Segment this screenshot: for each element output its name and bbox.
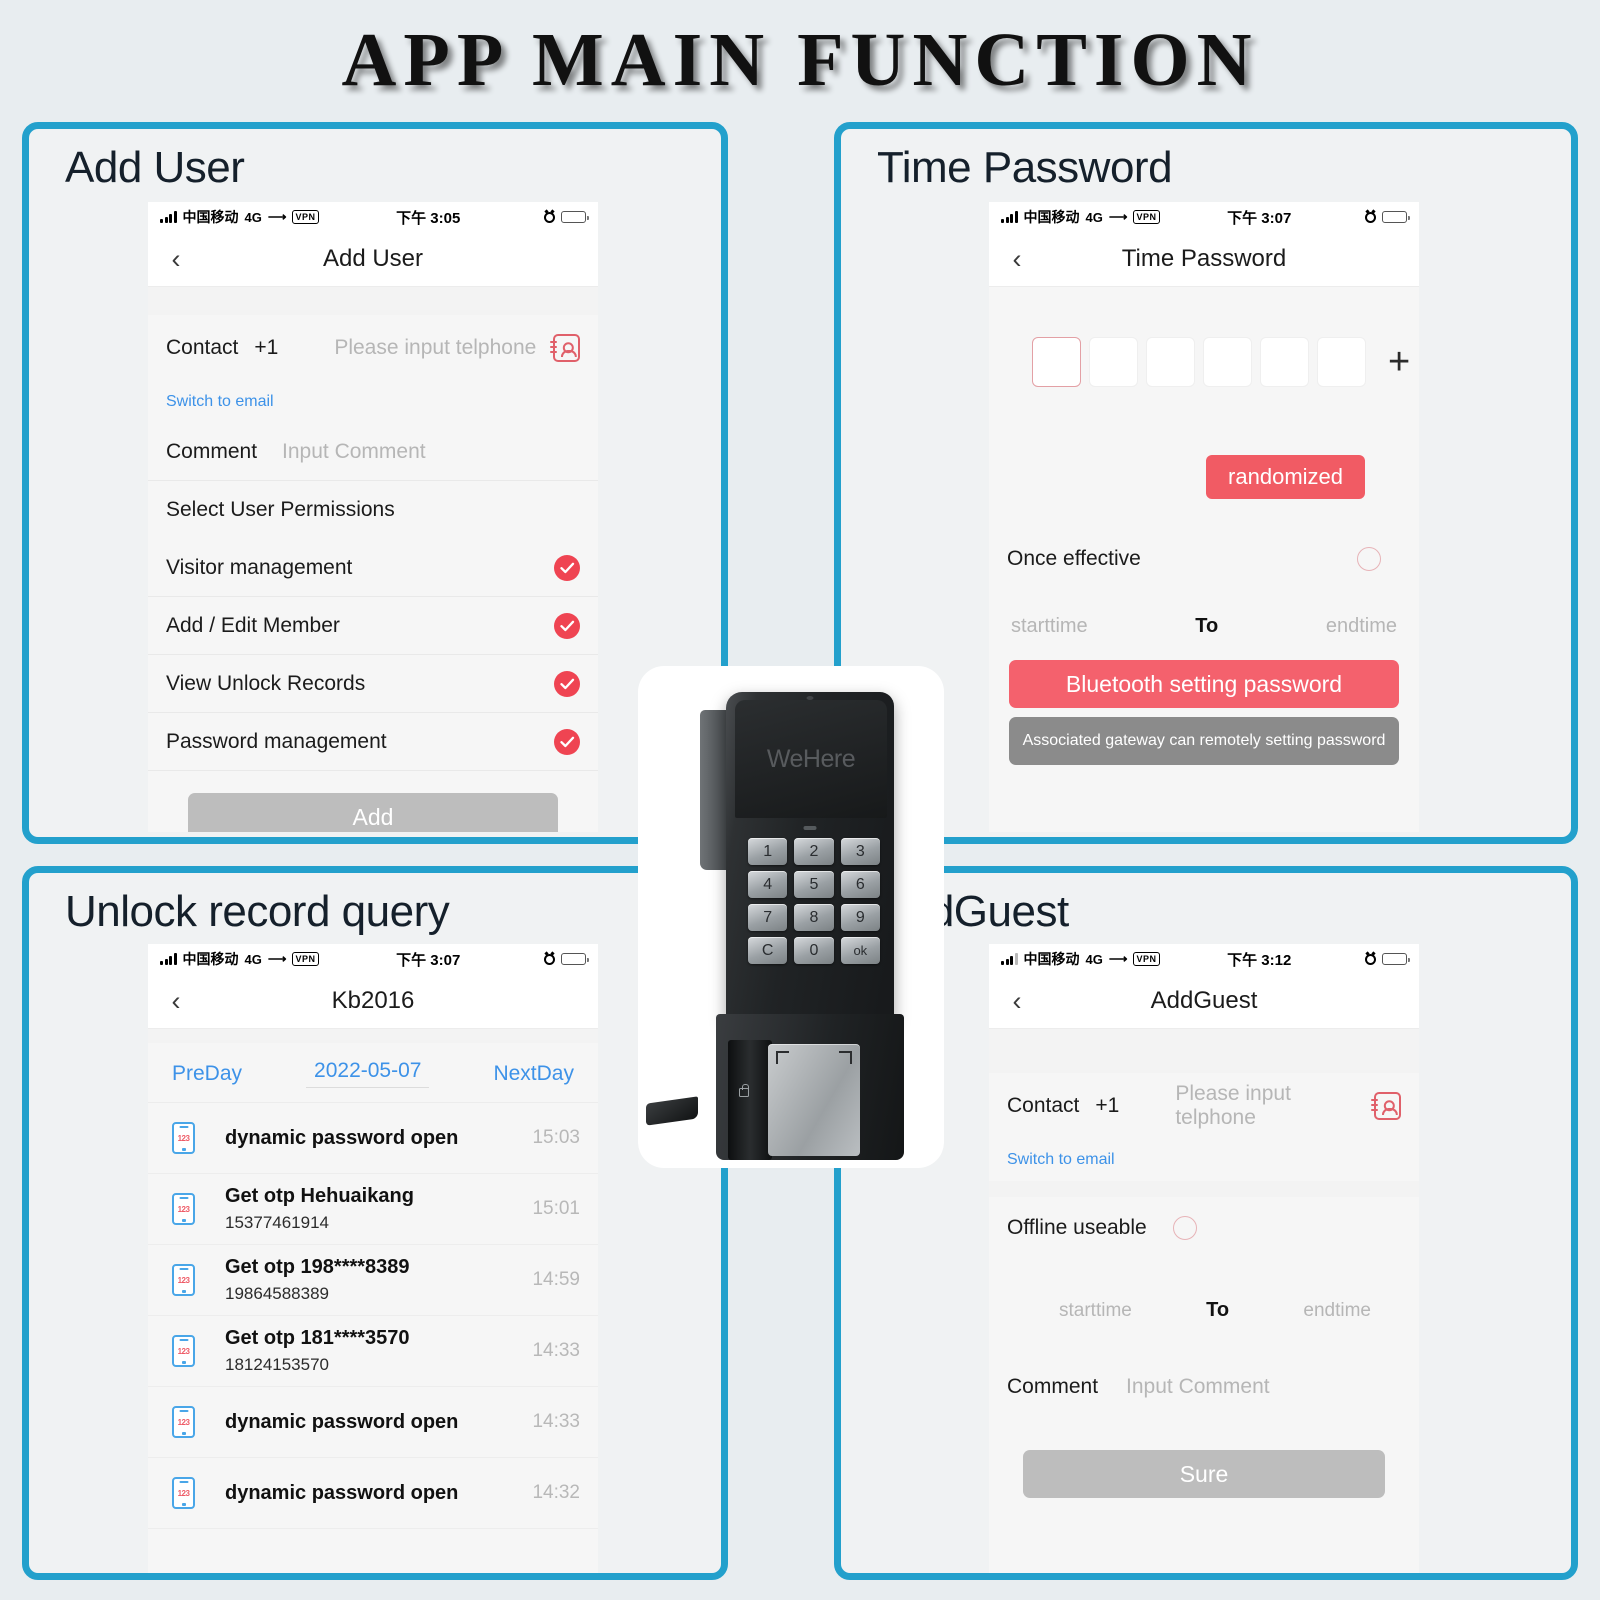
day-navigation: PreDay 2022-05-07 NextDay <box>148 1043 598 1103</box>
contact-row[interactable]: Contact +1 Please input telphone <box>989 1073 1419 1139</box>
keypad-key-ok[interactable]: ok <box>841 937 880 964</box>
comment-input[interactable]: Input Comment <box>257 440 426 464</box>
signal-bars-icon <box>1001 211 1018 223</box>
call-forward-icon: ⟶ <box>1109 209 1128 225</box>
page-title: APP MAIN FUNCTION <box>0 0 1600 110</box>
keypad-key-clear[interactable]: C <box>748 937 787 964</box>
record-subtitle: 18124153570 <box>225 1355 532 1375</box>
back-icon[interactable]: ‹ <box>148 986 204 1017</box>
carrier-label: 中国移动 <box>1024 207 1080 227</box>
country-code[interactable]: +1 <box>254 336 278 360</box>
battery-icon <box>561 211 586 223</box>
keypad-key[interactable]: 0 <box>794 937 833 964</box>
password-box[interactable] <box>1089 337 1138 387</box>
permissions-heading-row: Select User Permissions <box>148 481 598 539</box>
brand-label: WeHere <box>767 745 855 774</box>
screen-body: Contact +1 Please input telphone Switch … <box>989 1029 1419 1580</box>
vpn-badge: VPN <box>1133 210 1159 224</box>
keypad-key[interactable]: 4 <box>748 871 787 898</box>
keypad-phone-icon: 123 <box>172 1406 195 1438</box>
status-bar: 中国移动 4G ⟶ VPN 下午 3:07 <box>148 944 598 974</box>
record-title: dynamic password open <box>225 1127 458 1149</box>
switch-to-email-row[interactable]: Switch to email <box>148 381 598 423</box>
signal-bars-icon <box>160 953 177 965</box>
permission-row[interactable]: View Unlock Records <box>148 655 598 713</box>
contact-row[interactable]: Contact +1 Please input telphone <box>148 315 598 381</box>
corner-marker-icon <box>839 1051 852 1064</box>
panel-time-password: Time Password 中国移动 4G ⟶ VPN 下午 3:07 ‹ T <box>834 122 1578 844</box>
network-label: 4G <box>1086 952 1103 967</box>
keypad-key[interactable]: 9 <box>841 904 880 931</box>
switch-to-email-row[interactable]: Switch to email <box>989 1139 1419 1181</box>
alarm-icon <box>1365 954 1376 965</box>
offline-useable-row[interactable]: Offline useable <box>989 1197 1419 1259</box>
sure-button-wrap: Sure <box>989 1416 1419 1498</box>
alarm-icon <box>1365 212 1376 223</box>
record-time: 14:32 <box>532 1482 580 1504</box>
password-box[interactable] <box>1317 337 1366 387</box>
add-button-wrap: Add <box>148 771 598 832</box>
comment-input[interactable]: Input Comment <box>1098 1375 1270 1399</box>
phone-mock-add-user: 中国移动 4G ⟶ VPN 下午 3:05 ‹ Add User Conta <box>148 202 598 832</box>
panel-heading-unlock-record: Unlock record query <box>29 873 721 938</box>
lock-screen: WeHere <box>735 700 887 818</box>
permission-label: Add / Edit Member <box>166 614 340 638</box>
keypad-key[interactable]: 3 <box>841 838 880 865</box>
permissions-heading: Select User Permissions <box>166 498 395 522</box>
status-time: 下午 3:05 <box>319 207 545 228</box>
check-icon[interactable] <box>554 729 580 755</box>
permission-row[interactable]: Add / Edit Member <box>148 597 598 655</box>
password-box[interactable] <box>1260 337 1309 387</box>
nav-bar: ‹ Time Password <box>989 232 1419 287</box>
keypad-phone-icon: 123 <box>172 1264 195 1296</box>
once-effective-radio[interactable] <box>1357 547 1381 571</box>
nav-bar: ‹ Kb2016 <box>148 974 598 1029</box>
panel-heading-time-password: Time Password <box>841 129 1571 194</box>
record-title: dynamic password open <box>225 1482 458 1504</box>
record-time: 14:33 <box>532 1411 580 1433</box>
keypad-phone-icon: 123 <box>172 1477 195 1509</box>
offline-useable-label: Offline useable <box>1007 1216 1147 1240</box>
randomized-wrap: randomized <box>989 387 1419 499</box>
comment-row[interactable]: Comment Input Comment <box>989 1358 1419 1416</box>
once-effective-label: Once effective <box>1007 547 1141 571</box>
to-label: To <box>1206 1299 1229 1322</box>
permission-row[interactable]: Password management <box>148 713 598 771</box>
vpn-badge: VPN <box>292 210 318 224</box>
pre-day-button[interactable]: PreDay <box>172 1062 242 1086</box>
permission-row[interactable]: Visitor management <box>148 539 598 597</box>
back-icon[interactable]: ‹ <box>148 244 204 275</box>
record-title: Get otp Hehuaikang <box>225 1185 532 1208</box>
starttime-input[interactable]: starttime <box>1059 1300 1132 1322</box>
contact-label: Contact <box>1007 1094 1079 1118</box>
panel-add-user: Add User 中国移动 4G ⟶ VPN 下午 3:05 ‹ Add Us <box>22 122 728 844</box>
record-row[interactable]: 123 dynamic password open 14:32 <box>148 1458 598 1529</box>
battery-icon <box>1382 211 1407 223</box>
nav-title: Add User <box>148 245 598 273</box>
screen-body: PreDay 2022-05-07 NextDay 123 dynamic pa… <box>148 1029 598 1580</box>
status-bar: 中国移动 4G ⟶ VPN 下午 3:05 <box>148 202 598 232</box>
switch-to-email-link[interactable]: Switch to email <box>1007 1151 1115 1169</box>
keypad-key[interactable]: 1 <box>748 838 787 865</box>
comment-label: Comment <box>1007 1375 1098 1399</box>
keypad-key[interactable]: 6 <box>841 871 880 898</box>
keypad-key[interactable]: 5 <box>794 871 833 898</box>
record-title: Get otp 198****8389 <box>225 1256 532 1279</box>
panel-add-guest: AddGuest 中国移动 4G ⟶ VPN 下午 3:12 ‹ AddGue <box>834 866 1578 1580</box>
contacts-book-icon[interactable] <box>1374 1092 1401 1120</box>
check-icon[interactable] <box>554 555 580 581</box>
status-time: 下午 3:12 <box>1160 949 1366 970</box>
endtime-input[interactable]: endtime <box>1326 615 1397 638</box>
record-time: 15:01 <box>532 1198 580 1220</box>
comment-row[interactable]: Comment Input Comment <box>148 423 598 481</box>
status-bar: 中国移动 4G ⟶ VPN 下午 3:12 <box>989 944 1419 974</box>
signal-bars-icon <box>1001 953 1018 965</box>
phone-input[interactable]: Please input telphone <box>294 336 537 360</box>
lock-device-image: WeHere 1 2 3 4 5 6 7 8 9 C 0 ok <box>638 666 944 1168</box>
screen-body: + randomized Once effective starttime To… <box>989 287 1419 832</box>
network-label: 4G <box>245 952 262 967</box>
status-time: 下午 3:07 <box>1160 207 1366 228</box>
phone-mock-add-guest: 中国移动 4G ⟶ VPN 下午 3:12 ‹ AddGuest Conta <box>989 944 1419 1580</box>
phone-mock-unlock-record: 中国移动 4G ⟶ VPN 下午 3:07 ‹ Kb2016 PreDay <box>148 944 598 1580</box>
call-forward-icon: ⟶ <box>1109 951 1128 967</box>
password-box[interactable] <box>1203 337 1252 387</box>
to-label: To <box>1195 615 1218 638</box>
comment-label: Comment <box>166 440 257 464</box>
record-time: 14:59 <box>532 1269 580 1291</box>
plus-icon[interactable]: + <box>1388 343 1410 381</box>
carrier-label: 中国移动 <box>1024 949 1080 969</box>
country-code[interactable]: +1 <box>1095 1094 1119 1118</box>
bluetooth-setting-password-button[interactable]: Bluetooth setting password <box>1009 660 1399 708</box>
record-row[interactable]: 123 Get otp 181****3570 18124153570 14:3… <box>148 1316 598 1387</box>
record-title: Get otp 181****3570 <box>225 1327 532 1350</box>
status-time: 下午 3:07 <box>319 949 545 970</box>
network-label: 4G <box>245 210 262 225</box>
record-row[interactable]: 123 Get otp Hehuaikang 15377461914 15:01 <box>148 1174 598 1245</box>
nav-title: AddGuest <box>989 987 1419 1015</box>
nav-bar: ‹ AddGuest <box>989 974 1419 1029</box>
record-title: dynamic password open <box>225 1411 458 1433</box>
record-row[interactable]: 123 dynamic password open 14:33 <box>148 1387 598 1458</box>
carrier-label: 中国移动 <box>183 207 239 227</box>
record-row[interactable]: 123 Get otp 198****8389 19864588389 14:5… <box>148 1245 598 1316</box>
offline-useable-radio[interactable] <box>1173 1216 1197 1240</box>
signal-bars-icon <box>160 211 177 223</box>
lock-body: WeHere 1 2 3 4 5 6 7 8 9 C 0 ok <box>726 692 894 1022</box>
call-forward-icon: ⟶ <box>268 951 287 967</box>
keypad-key[interactable]: 8 <box>794 904 833 931</box>
check-icon[interactable] <box>554 613 580 639</box>
next-day-button[interactable]: NextDay <box>493 1062 574 1086</box>
keypad-key[interactable]: 7 <box>748 904 787 931</box>
led-indicator-icon <box>804 826 817 830</box>
lock-base <box>716 1014 904 1160</box>
spacer <box>148 287 598 315</box>
time-range-row: starttime To endtime <box>989 571 1419 638</box>
record-subtitle: 19864588389 <box>225 1284 532 1304</box>
vpn-badge: VPN <box>292 952 318 966</box>
alarm-icon <box>544 212 555 223</box>
time-range-row: starttime To endtime <box>989 1259 1419 1322</box>
keypad-phone-icon: 123 <box>172 1335 195 1367</box>
panel-heading-add-guest: AddGuest <box>841 873 1571 938</box>
record-time: 14:33 <box>532 1340 580 1362</box>
lock-cable-tab <box>646 1096 698 1125</box>
panel-unlock-record: Unlock record query 中国移动 4G ⟶ VPN 下午 3:0… <box>22 866 728 1580</box>
record-time: 15:03 <box>532 1127 580 1149</box>
phone-mock-time-password: 中国移动 4G ⟶ VPN 下午 3:07 ‹ Time Password <box>989 202 1419 832</box>
password-boxes: + <box>989 287 1419 387</box>
battery-icon <box>561 953 586 965</box>
once-effective-row[interactable]: Once effective <box>989 499 1419 571</box>
lock-keypad: 1 2 3 4 5 6 7 8 9 C 0 ok <box>748 838 880 964</box>
keypad-phone-icon: 123 <box>172 1122 195 1154</box>
battery-icon <box>1382 953 1407 965</box>
vpn-badge: VPN <box>1133 952 1159 966</box>
alarm-icon <box>544 954 555 965</box>
back-icon[interactable]: ‹ <box>989 986 1045 1017</box>
contacts-book-icon[interactable] <box>553 334 580 362</box>
add-button[interactable]: Add <box>188 793 558 832</box>
nav-bar: ‹ Add User <box>148 232 598 287</box>
lock-slot <box>728 1040 772 1160</box>
password-box[interactable] <box>1032 337 1081 387</box>
password-box[interactable] <box>1146 337 1195 387</box>
sure-button[interactable]: Sure <box>1023 1450 1385 1498</box>
keypad-phone-icon: 123 <box>172 1193 195 1225</box>
endtime-input[interactable]: endtime <box>1303 1300 1371 1322</box>
status-bar: 中国移动 4G ⟶ VPN 下午 3:07 <box>989 202 1419 232</box>
starttime-input[interactable]: starttime <box>1011 615 1088 638</box>
keypad-key[interactable]: 2 <box>794 838 833 865</box>
permission-label: Visitor management <box>166 556 352 580</box>
randomized-button[interactable]: randomized <box>1206 455 1365 499</box>
gateway-remote-password-button[interactable]: Associated gateway can remotely setting … <box>1009 717 1399 765</box>
corner-marker-icon <box>776 1051 789 1064</box>
time-password-actions: Bluetooth setting password Associated ga… <box>989 638 1419 765</box>
nav-title: Time Password <box>989 245 1419 273</box>
permission-label: View Unlock Records <box>166 672 365 696</box>
call-forward-icon: ⟶ <box>268 209 287 225</box>
permission-label: Password management <box>166 730 387 754</box>
network-label: 4G <box>1086 210 1103 225</box>
padlock-icon <box>739 1088 749 1097</box>
contact-label: Contact <box>166 336 238 360</box>
check-icon[interactable] <box>554 671 580 697</box>
screen-body: Contact +1 Please input telphone Switch … <box>148 287 598 832</box>
date-selector[interactable]: 2022-05-07 <box>306 1059 429 1088</box>
carrier-label: 中国移动 <box>183 949 239 969</box>
record-subtitle: 15377461914 <box>225 1213 532 1233</box>
switch-to-email-link[interactable]: Switch to email <box>166 393 274 411</box>
lock-latch <box>768 1044 860 1156</box>
phone-input[interactable]: Please input telphone <box>1135 1082 1358 1130</box>
back-icon[interactable]: ‹ <box>989 244 1045 275</box>
panel-heading-add-user: Add User <box>29 129 721 194</box>
nav-title: Kb2016 <box>148 987 598 1015</box>
record-row[interactable]: 123 dynamic password open 15:03 <box>148 1103 598 1174</box>
